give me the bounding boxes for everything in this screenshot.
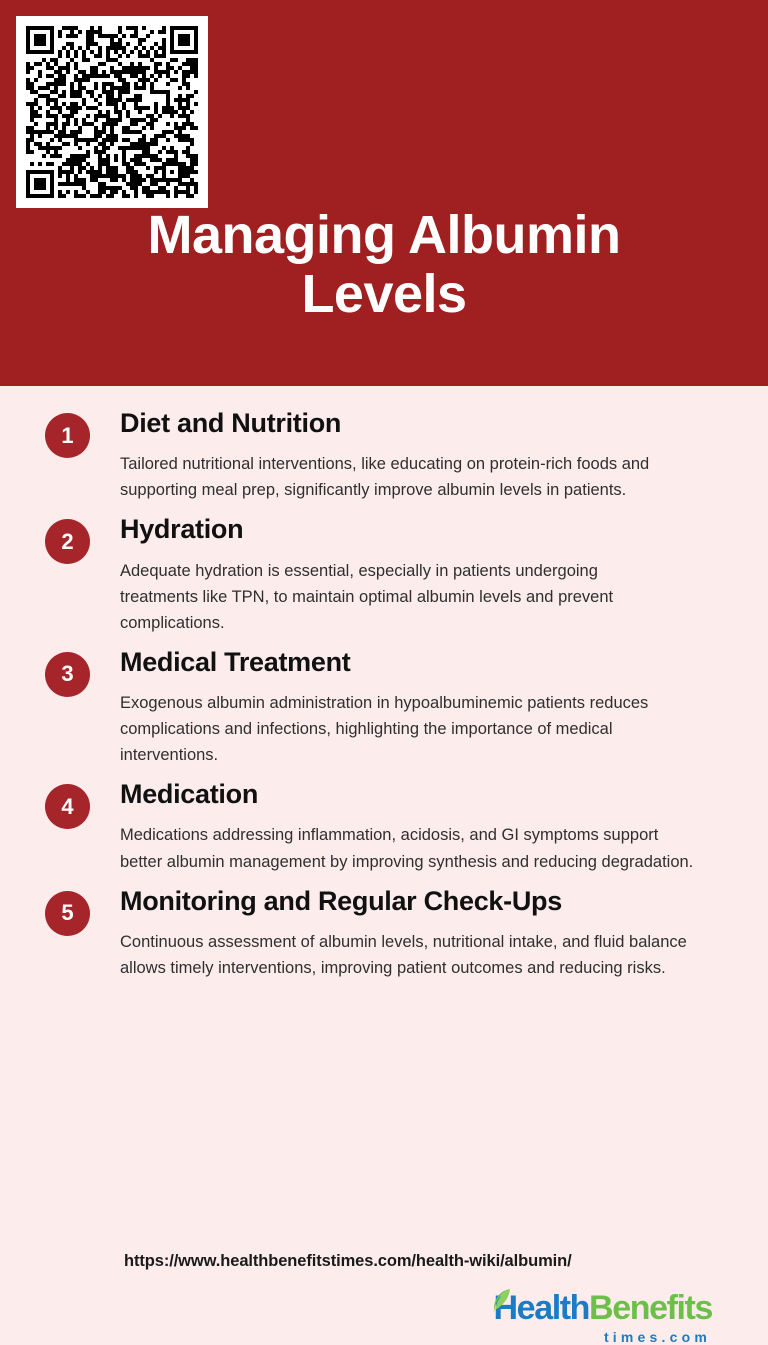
brand-logo-tagline: times.com [604, 1330, 712, 1344]
step-number-badge: 4 [45, 784, 90, 829]
step-description: Continuous assessment of albumin levels,… [120, 929, 695, 981]
poster-footer: https://www.healthbenefitstimes.com/heal… [0, 1238, 768, 1344]
brand-logo-wordmark: HealthBenefits [494, 1291, 712, 1325]
step-title: Diet and Nutrition [120, 408, 740, 438]
list-item: 3 Medical Treatment Exogenous albumin ad… [28, 647, 740, 768]
poster-header: Managing Albumin Levels [0, 0, 768, 386]
qr-code[interactable] [16, 16, 208, 208]
qr-code-canvas [26, 26, 198, 198]
brand-logo-benefits: Benefits [589, 1289, 712, 1327]
source-url[interactable]: https://www.healthbenefitstimes.com/heal… [28, 1252, 740, 1271]
step-description: Exogenous albumin administration in hypo… [120, 690, 710, 768]
step-number-badge: 3 [45, 652, 90, 697]
infographic-poster: Managing Albumin Levels 1 Diet and Nutri… [0, 0, 768, 1344]
step-title: Medical Treatment [120, 647, 740, 677]
step-number-badge: 2 [45, 519, 90, 564]
step-title: Hydration [120, 514, 740, 544]
list-item: 2 Hydration Adequate hydration is essent… [28, 514, 740, 635]
list-item: 1 Diet and Nutrition Tailored nutritiona… [28, 408, 740, 503]
step-number-badge: 5 [45, 891, 90, 936]
logo-row: HealthBenefits times.com [28, 1291, 740, 1344]
brand-logo-health: Health [494, 1289, 590, 1327]
brand-logo[interactable]: HealthBenefits times.com [494, 1291, 712, 1344]
step-description: Medications addressing inflammation, aci… [120, 822, 700, 874]
step-description: Tailored nutritional interventions, like… [120, 451, 695, 503]
step-number-badge: 1 [45, 413, 90, 458]
step-description: Adequate hydration is essential, especia… [120, 558, 665, 636]
list-item: 5 Monitoring and Regular Check-Ups Conti… [28, 886, 740, 981]
page-title: Managing Albumin Levels [60, 206, 708, 325]
list-item: 4 Medication Medications addressing infl… [28, 779, 740, 874]
steps-list: 1 Diet and Nutrition Tailored nutritiona… [0, 386, 768, 1238]
step-title: Monitoring and Regular Check-Ups [120, 886, 740, 916]
step-title: Medication [120, 779, 740, 809]
